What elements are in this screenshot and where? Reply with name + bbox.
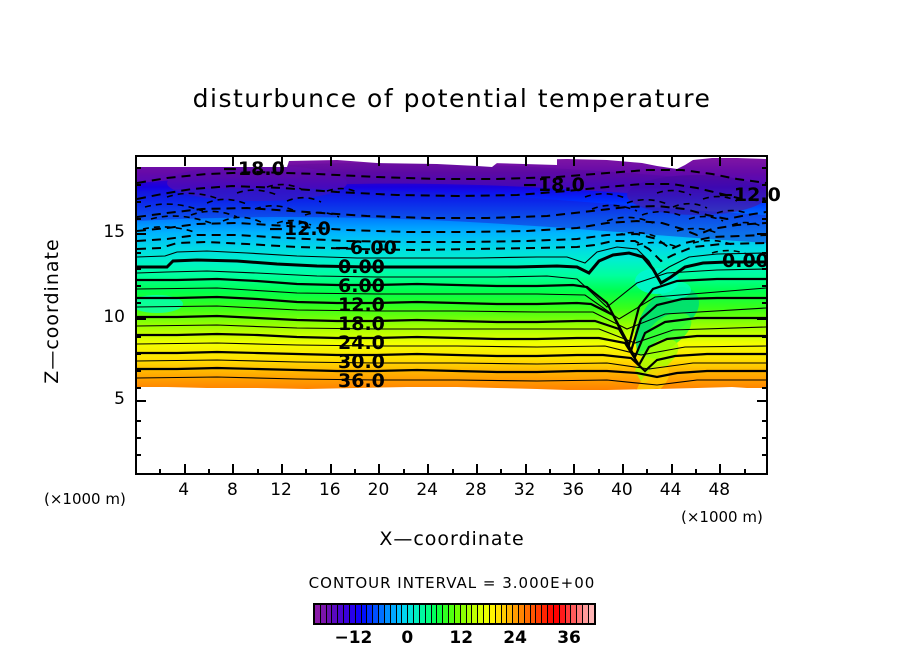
x-tick-major-top <box>573 155 575 166</box>
y-tick-major <box>135 233 146 235</box>
x-tick-major-top <box>427 155 429 166</box>
x-tick-major-top <box>281 155 283 166</box>
colorbar-cell <box>589 605 594 623</box>
x-tick-minor <box>452 469 454 475</box>
y-tick-minor <box>135 437 141 439</box>
x-tick-label: 36 <box>553 480 593 500</box>
y-tick-minor-right <box>762 218 768 220</box>
x-tick-minor <box>646 469 648 475</box>
x-axis-unit-label: (×1000 m) <box>681 508 763 526</box>
y-tick-minor-right <box>762 353 768 355</box>
x-tick-minor <box>744 469 746 475</box>
y-tick-minor-right <box>762 252 768 254</box>
colorbar-tick-label: 24 <box>490 628 540 648</box>
x-tick-minor <box>159 469 161 475</box>
y-axis-title: Z—coordinate <box>41 231 63 391</box>
x-tick-label: 16 <box>310 480 350 500</box>
y-tick-major <box>135 400 146 402</box>
x-tick-major-top <box>719 155 721 166</box>
y-tick-minor-right <box>762 285 768 287</box>
x-tick-major <box>671 464 673 475</box>
y-tick-label: 15 <box>95 222 125 242</box>
colorbar-caption: CONTOUR INTERVAL = 3.000E+00 <box>0 574 904 592</box>
x-tick-major-top <box>184 155 186 166</box>
x-tick-major <box>330 464 332 475</box>
x-tick-minor <box>257 469 259 475</box>
y-tick-minor-right <box>762 454 768 456</box>
y-tick-minor <box>135 420 141 422</box>
y-tick-major <box>135 318 146 320</box>
y-tick-label: 10 <box>95 307 125 327</box>
contour-label--18-right: −18.0 <box>522 174 585 196</box>
contour-field-svg <box>137 157 766 473</box>
contour-field <box>137 157 766 473</box>
contour-label-36: 36.0 <box>338 370 385 392</box>
x-tick-major-top <box>476 155 478 166</box>
y-tick-minor-right <box>762 420 768 422</box>
y-tick-minor-right <box>762 336 768 338</box>
x-tick-minor <box>695 469 697 475</box>
x-tick-major <box>281 464 283 475</box>
x-tick-major-top <box>378 155 380 166</box>
y-tick-label: 5 <box>95 389 125 409</box>
x-tick-major-top <box>671 155 673 166</box>
y-tick-major-right <box>757 400 768 402</box>
y-tick-minor <box>135 184 141 186</box>
x-tick-major <box>719 464 721 475</box>
y-tick-minor-right <box>762 387 768 389</box>
y-tick-minor <box>135 336 141 338</box>
x-tick-label: 24 <box>407 480 447 500</box>
x-tick-major <box>476 464 478 475</box>
y-axis-unit-label: (×1000 m) <box>44 490 126 508</box>
x-tick-minor <box>208 469 210 475</box>
x-tick-minor <box>598 469 600 475</box>
y-tick-minor-right <box>762 184 768 186</box>
y-tick-minor <box>135 454 141 456</box>
y-tick-minor <box>135 302 141 304</box>
y-tick-minor-right <box>762 302 768 304</box>
colorbar-tick-label: 0 <box>382 628 432 648</box>
x-tick-minor <box>305 469 307 475</box>
x-tick-major-top <box>232 155 234 166</box>
y-tick-minor <box>135 370 141 372</box>
page-title: disturbunce of potential temperature <box>0 84 904 113</box>
y-tick-minor-right <box>762 370 768 372</box>
y-tick-minor <box>135 268 141 270</box>
y-tick-minor-right <box>762 201 768 203</box>
contour-plot-area <box>135 155 768 475</box>
x-tick-major-top <box>622 155 624 166</box>
contour-label--12-right: −12.0 <box>718 184 781 206</box>
y-tick-minor <box>135 252 141 254</box>
x-tick-label: 28 <box>456 480 496 500</box>
x-tick-label: 12 <box>261 480 301 500</box>
x-tick-major <box>525 464 527 475</box>
x-tick-label: 44 <box>651 480 691 500</box>
x-tick-minor <box>500 469 502 475</box>
colorbar-tick-label: 36 <box>544 628 594 648</box>
x-tick-major <box>573 464 575 475</box>
x-tick-label: 8 <box>212 480 252 500</box>
x-tick-major-top <box>330 155 332 166</box>
y-tick-minor <box>135 167 141 169</box>
y-tick-minor <box>135 201 141 203</box>
y-tick-minor-right <box>762 437 768 439</box>
x-tick-label: 20 <box>358 480 398 500</box>
x-tick-minor <box>403 469 405 475</box>
x-tick-major <box>622 464 624 475</box>
y-tick-minor <box>135 353 141 355</box>
y-tick-minor <box>135 387 141 389</box>
y-tick-major-right <box>757 318 768 320</box>
y-tick-minor-right <box>762 268 768 270</box>
colorbar <box>313 603 596 625</box>
x-tick-major <box>378 464 380 475</box>
x-tick-major <box>427 464 429 475</box>
x-tick-label: 4 <box>164 480 204 500</box>
x-tick-minor <box>549 469 551 475</box>
y-tick-minor-right <box>762 167 768 169</box>
x-tick-label: 48 <box>699 480 739 500</box>
y-tick-major-right <box>757 233 768 235</box>
colorbar-tick-label: −12 <box>328 628 378 648</box>
x-tick-label: 40 <box>602 480 642 500</box>
x-tick-label: 32 <box>505 480 545 500</box>
x-tick-major-top <box>525 155 527 166</box>
x-tick-major <box>232 464 234 475</box>
x-tick-major <box>184 464 186 475</box>
colorbar-tick-label: 12 <box>436 628 486 648</box>
y-tick-minor <box>135 285 141 287</box>
x-axis-title: X—coordinate <box>0 528 904 550</box>
contour-label--12-left: −12.0 <box>268 218 331 240</box>
y-tick-minor <box>135 218 141 220</box>
x-tick-minor <box>354 469 356 475</box>
